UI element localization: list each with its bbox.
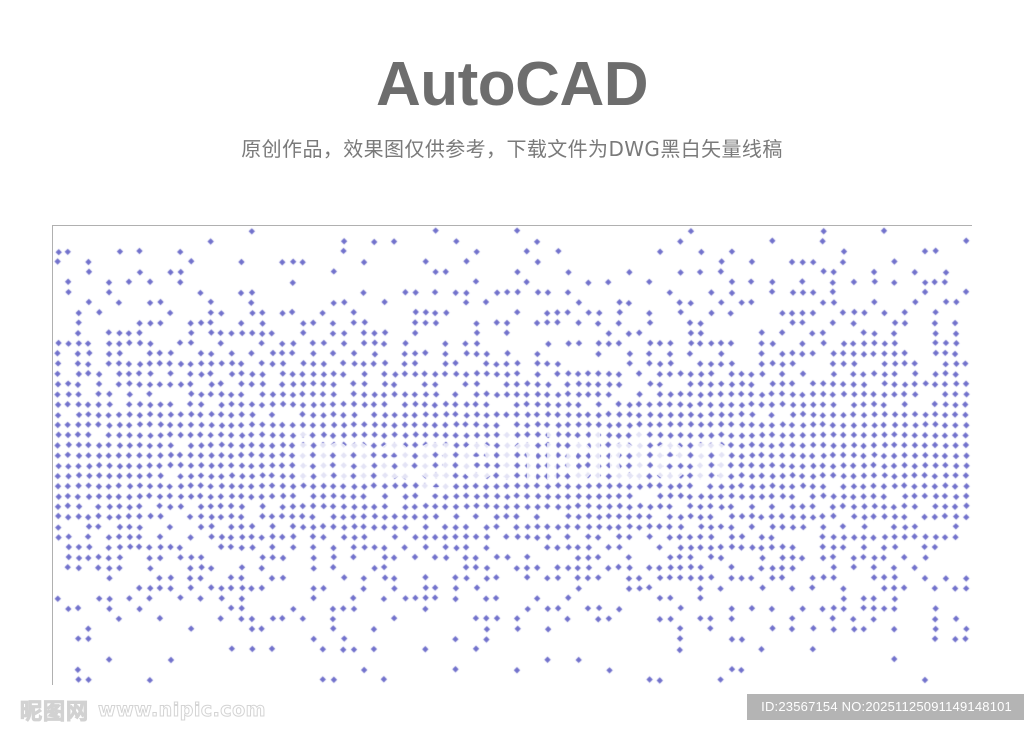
page-title: AutoCAD: [0, 0, 1024, 117]
site-watermark-logo: 昵图网: [20, 694, 89, 726]
header: AutoCAD 原创作品，效果图仅供参考，下载文件为DWG黑白矢量线稿: [0, 0, 1024, 162]
site-watermark: 昵图网 www.nipic.com: [20, 694, 266, 726]
site-watermark-url: www.nipic.com: [98, 699, 266, 721]
page-subtitle: 原创作品，效果图仅供参考，下载文件为DWG黑白矢量线稿: [0, 117, 1024, 162]
drawing-frame: imagehidden: [52, 225, 972, 685]
id-badge: ID:23567154 NO:20251125091149148101: [747, 694, 1024, 720]
halftone-dot-pattern: [53, 226, 972, 685]
